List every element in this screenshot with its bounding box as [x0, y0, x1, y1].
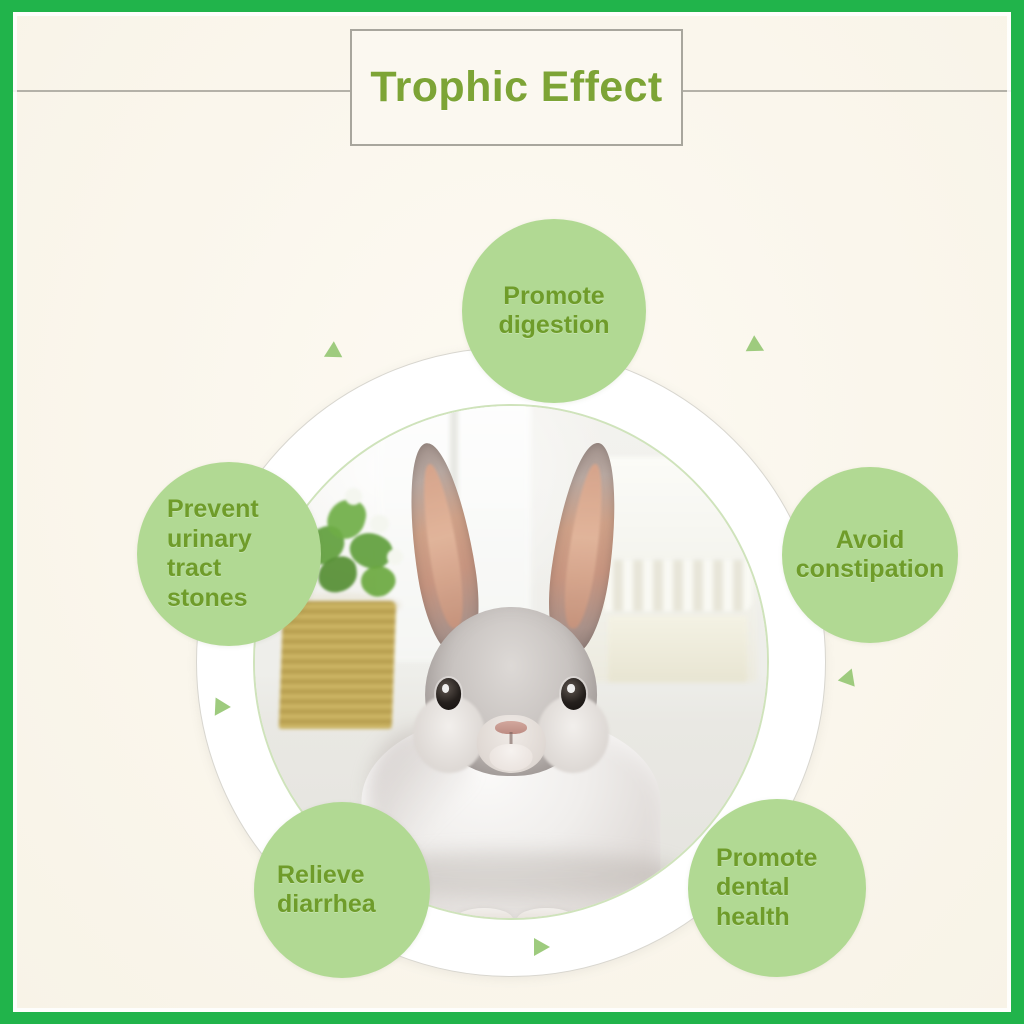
- arrow-bottom-icon: [534, 938, 550, 956]
- bubble-relieve-diarrhea[interactable]: Relieve diarrhea: [254, 802, 430, 978]
- bubble-label: Avoid constipation: [782, 526, 958, 585]
- bubble-label: Promote digestion: [498, 282, 609, 341]
- bubble-label: Prevent urinary tract stones: [167, 495, 291, 613]
- page-title: Trophic Effect: [370, 63, 662, 112]
- poster: Trophic Effect: [0, 0, 1024, 1024]
- bubble-label: Promote dental health: [716, 844, 838, 933]
- rabbit-head: [425, 607, 596, 777]
- cycle-diagram: Promote digestion Avoid constipation Pro…: [161, 312, 861, 1012]
- bubble-label: Relieve diarrhea: [277, 861, 407, 920]
- bubble-promote-digestion[interactable]: Promote digestion: [462, 219, 646, 403]
- arrow-right-icon: [838, 665, 860, 686]
- rabbit-muzzle: [477, 715, 546, 773]
- arrow-top-right-icon: [746, 335, 769, 358]
- poster-canvas: Trophic Effect: [13, 12, 1011, 1012]
- bubble-prevent-urinary-tract-stones[interactable]: Prevent urinary tract stones: [137, 462, 321, 646]
- bubble-avoid-constipation[interactable]: Avoid constipation: [782, 467, 958, 643]
- arrow-top-left-icon: [320, 341, 343, 364]
- bubble-promote-dental-health[interactable]: Promote dental health: [688, 799, 866, 977]
- title-box: Trophic Effect: [350, 29, 683, 146]
